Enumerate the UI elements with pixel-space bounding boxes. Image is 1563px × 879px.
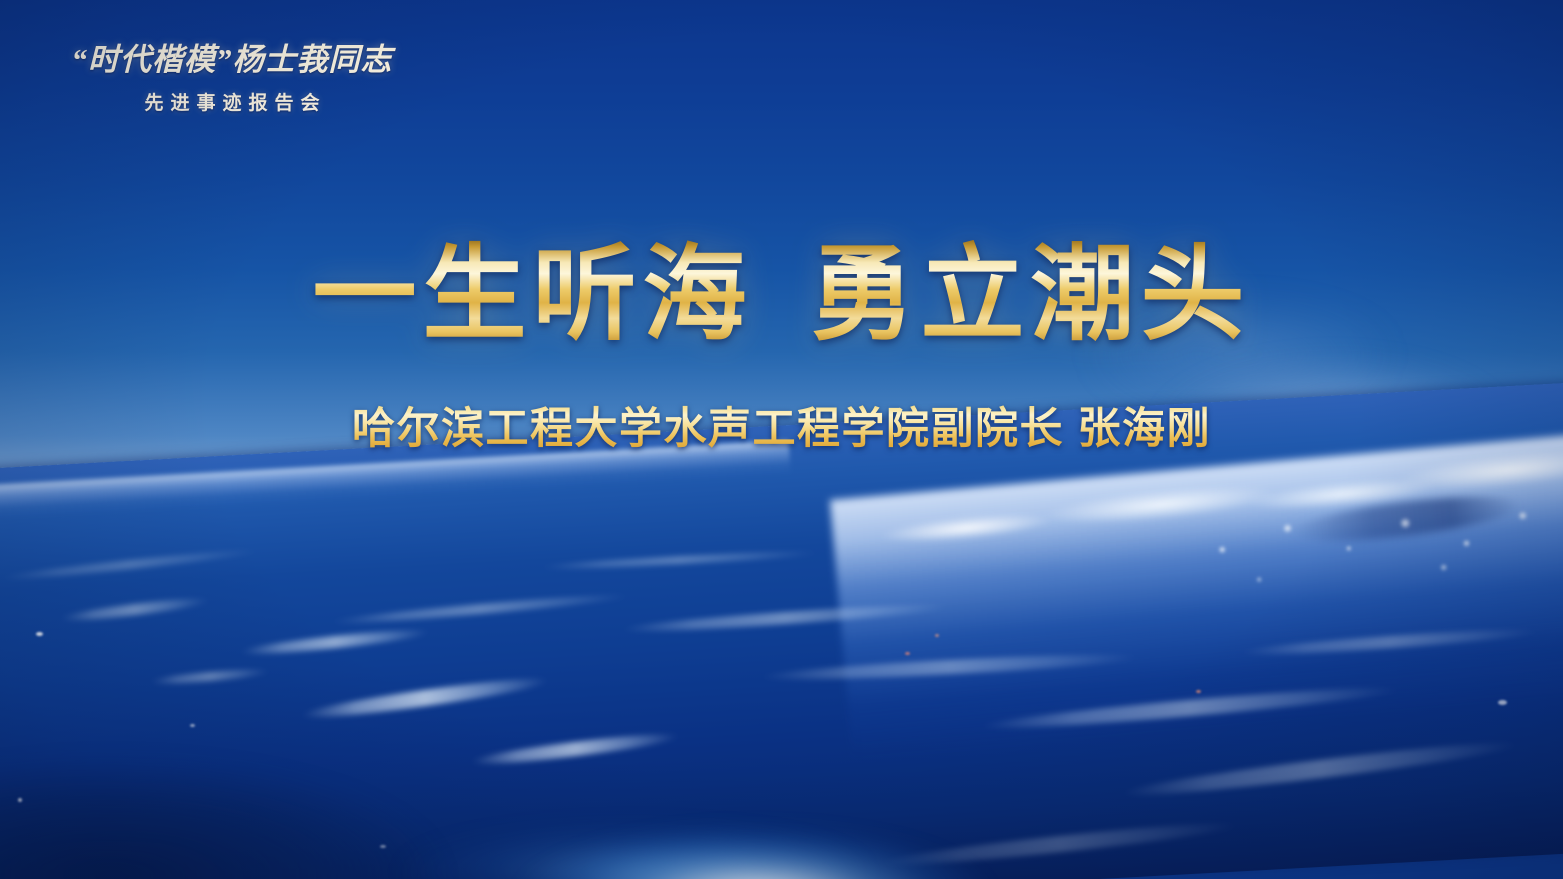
water-sparkle <box>380 845 386 848</box>
water-sparkle <box>1498 700 1507 705</box>
page-subtitle: 哈尔滨工程大学水声工程学院副院长 张海刚 <box>0 394 1563 456</box>
water-sparkle <box>190 724 195 727</box>
page-title-part2: 勇立潮头 <box>811 238 1251 353</box>
underwater-glow <box>470 742 1090 879</box>
program-logo-line1: “时代楷模”杨士莪同志 <box>52 34 412 79</box>
program-logo: “时代楷模”杨士莪同志 先进事迹报告会 <box>52 34 412 115</box>
water-sparkle <box>935 634 939 637</box>
title-slide: “时代楷模”杨士莪同志 先进事迹报告会 一生听海勇立潮头 哈尔滨工程大学水声工程… <box>0 0 1563 879</box>
program-logo-line2: 先进事迹报告会 <box>52 88 412 115</box>
water-sparkle <box>36 632 43 636</box>
page-title-part1: 一生听海 <box>312 238 752 353</box>
water-sparkle <box>18 798 22 802</box>
title-block: 一生听海勇立潮头 哈尔滨工程大学水声工程学院副院长 张海刚 <box>0 240 1563 456</box>
water-sparkle <box>905 652 910 655</box>
page-title: 一生听海勇立潮头 <box>0 240 1563 352</box>
water-sparkle <box>1196 690 1201 693</box>
